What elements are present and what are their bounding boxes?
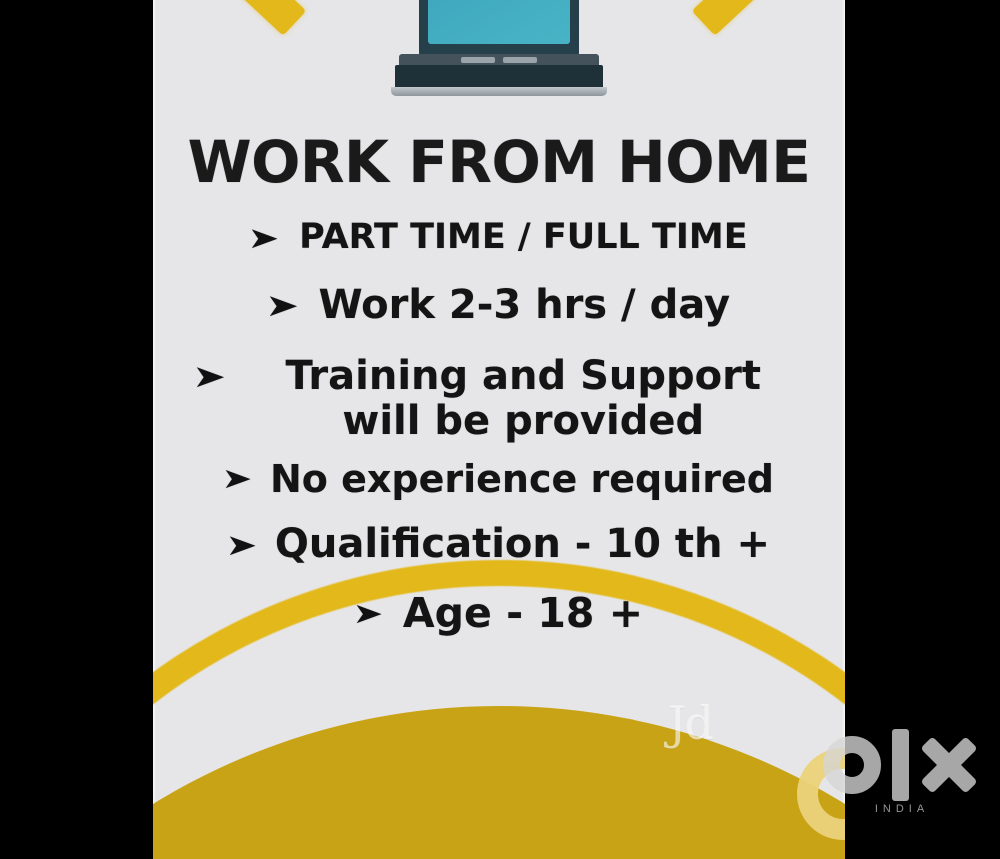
list-item-label: No experience required xyxy=(270,458,774,501)
laptop-icon xyxy=(391,0,607,98)
list-item-label: Training and Support will be provided xyxy=(243,354,803,444)
top-right-yellow-ribbon xyxy=(692,0,845,36)
laptop-base xyxy=(391,87,607,96)
list-item: ➤ PART TIME / FULL TIME xyxy=(153,218,845,257)
arrow-bullet-icon: ➤ xyxy=(353,600,384,629)
page-title: WORK FROM HOME xyxy=(153,128,845,196)
olx-letter-l xyxy=(892,729,909,801)
list-item-label: Qualification - 10 th + xyxy=(275,522,770,567)
laptop-lid xyxy=(419,0,579,56)
poster-frame: WORK FROM HOME ➤ PART TIME / FULL TIME ➤… xyxy=(0,0,1000,859)
justdial-watermark: Jd xyxy=(668,696,712,750)
arrow-bullet-icon: ➤ xyxy=(248,223,280,252)
laptop-hinge-notch-right xyxy=(503,57,537,63)
arrow-bullet-icon: ➤ xyxy=(222,465,253,494)
list-item: ➤ No experience required xyxy=(153,458,845,501)
list-item-label: Age - 18 + xyxy=(403,591,643,637)
list-item-label: Work 2-3 hrs / day xyxy=(318,283,730,328)
list-item: ➤ Qualification - 10 th + xyxy=(153,522,845,567)
flyer-card: WORK FROM HOME ➤ PART TIME / FULL TIME ➤… xyxy=(153,0,845,859)
laptop-hinge-notch-left xyxy=(461,57,495,63)
arrow-bullet-icon: ➤ xyxy=(226,530,258,559)
laptop-screen xyxy=(428,0,570,44)
list-item: ➤ Training and Support will be provided xyxy=(153,354,845,444)
arrow-bullet-icon: ➤ xyxy=(265,291,299,322)
side-ring-accent xyxy=(797,748,845,840)
list-item: ➤ Age - 18 + xyxy=(153,591,845,637)
olx-letter-x xyxy=(920,736,978,794)
top-left-yellow-ribbon xyxy=(153,0,306,36)
list-item: ➤ Work 2-3 hrs / day xyxy=(153,283,845,328)
arrow-bullet-icon: ➤ xyxy=(192,361,226,392)
benefits-list: ➤ PART TIME / FULL TIME ➤ Work 2-3 hrs /… xyxy=(153,218,845,637)
list-item-label: PART TIME / FULL TIME xyxy=(299,218,748,257)
bottom-yellow-disc xyxy=(153,706,845,859)
